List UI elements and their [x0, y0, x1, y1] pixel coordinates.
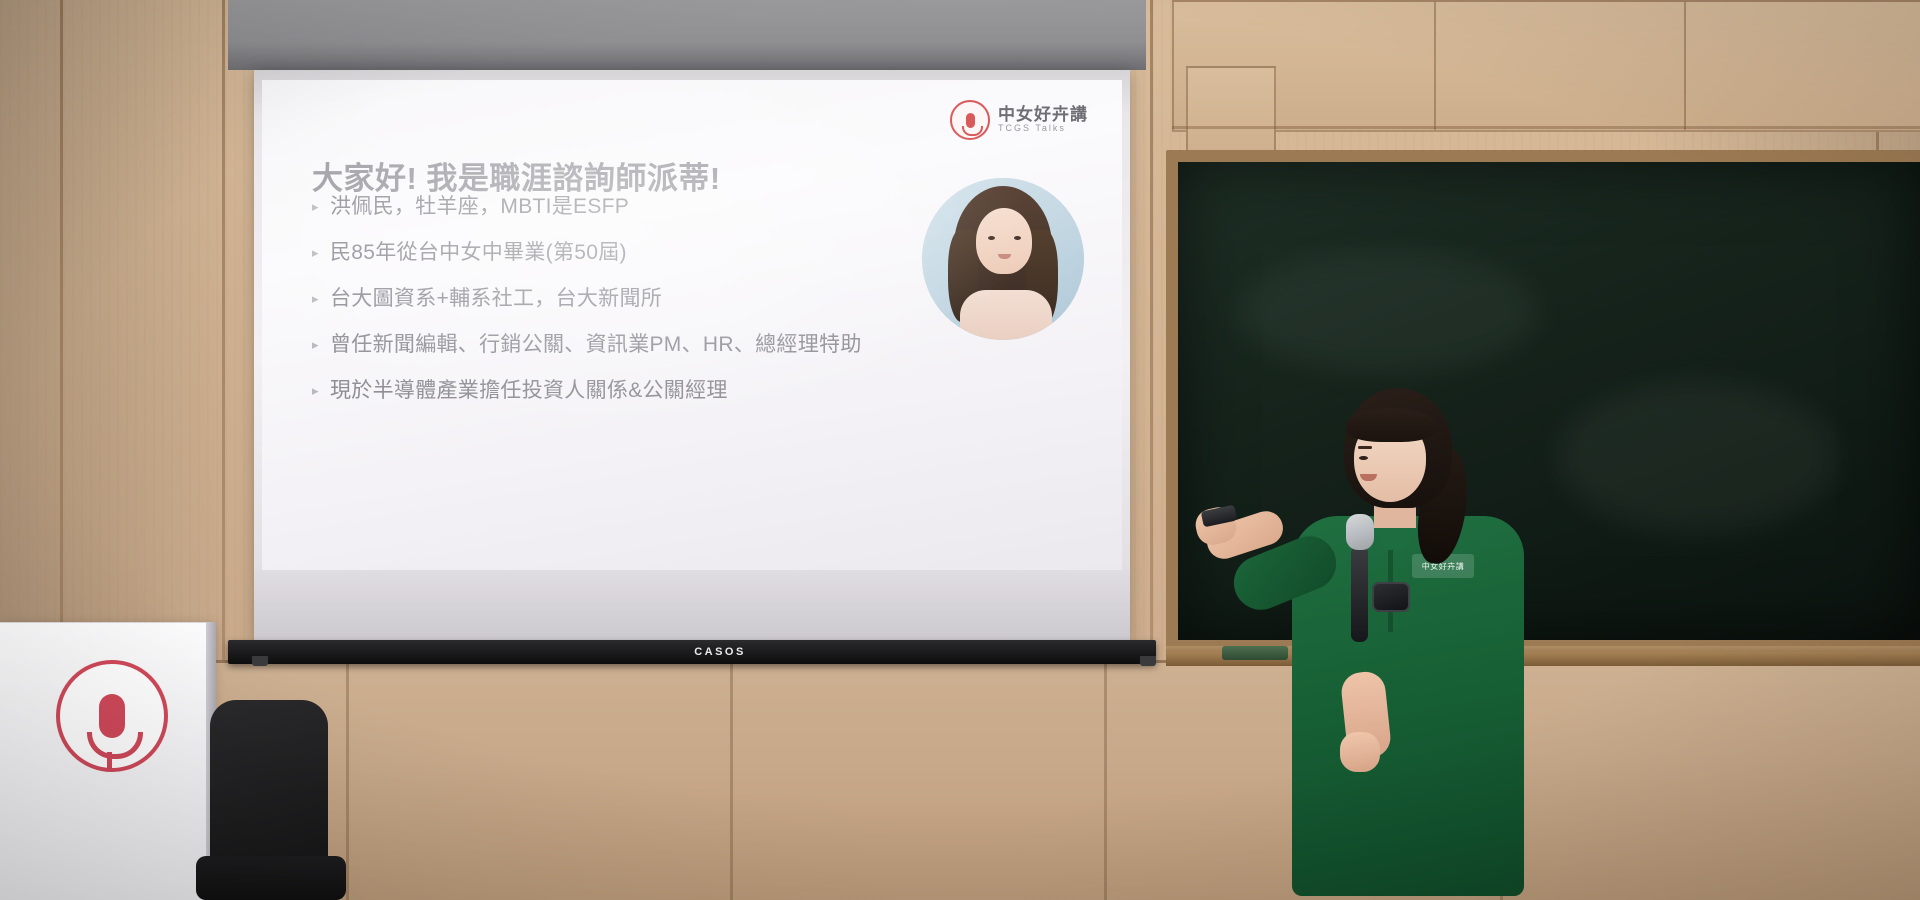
microphone-icon [950, 100, 990, 140]
presenter-eyebrow [1358, 446, 1372, 449]
wainscot-seam [346, 660, 349, 900]
microphone-glyph [99, 694, 125, 738]
microphone-handle[interactable] [1351, 546, 1368, 642]
bullet-text: 民85年從台中女中畢業(第50屆) [330, 238, 627, 268]
presenter-bangs [1346, 408, 1436, 442]
screen-brand-label: CASOS [665, 645, 775, 659]
portrait-eye-left [988, 236, 995, 240]
slide-bullet-list: ▸ 洪佩民，牡羊座，MBTI是ESFP ▸ 民85年從台中女中畢業(第50屆) … [312, 192, 912, 422]
wrist-watch [1372, 582, 1410, 612]
list-item: ▸ 民85年從台中女中畢業(第50屆) [312, 238, 912, 268]
list-item: ▸ 曾任新聞編輯、行銷公關、資訊業PM、HR、總經理特助 [312, 330, 912, 360]
wainscot-seam [730, 660, 733, 900]
wall-cabinet [1684, 0, 1920, 132]
presenter-right-hand [1340, 732, 1380, 772]
wall-cabinet [1434, 0, 1688, 132]
bullet-marker-icon: ▸ [312, 376, 330, 406]
bullet-marker-icon: ▸ [312, 330, 330, 360]
chair-seat [196, 856, 346, 900]
list-item: ▸ 洪佩民，牡羊座，MBTI是ESFP [312, 192, 912, 222]
projector-screen-top-mask [228, 0, 1146, 70]
presenter-person: 中女好卉講 [1196, 386, 1526, 900]
bullet-marker-icon: ▸ [312, 284, 330, 314]
banner-microphone-icon [56, 660, 168, 772]
projector-screen-lower-mask [254, 570, 1130, 643]
bullet-text: 現於半導體產業擔任投資人關係&公關經理 [330, 376, 728, 406]
screen-mount-foot [252, 656, 268, 666]
presenter-eye [1359, 456, 1368, 460]
logo-chinese-name: 中女好卉講 [998, 106, 1088, 125]
bullet-marker-icon: ▸ [312, 238, 330, 268]
portrait-eye-right [1014, 236, 1021, 240]
bullet-text: 台大圖資系+輔系社工，台大新聞所 [330, 284, 662, 314]
slide-portrait-avatar [922, 178, 1084, 340]
screen-mount-foot [1140, 656, 1156, 666]
logo-english-name: TCGS Talks [998, 124, 1088, 134]
microphone-glyph [966, 113, 975, 128]
wainscot-seam [1104, 660, 1107, 900]
logo-text-block: 中女好卉講 TCGS Talks [998, 106, 1088, 135]
bullet-text: 曾任新聞編輯、行銷公關、資訊業PM、HR、總經理特助 [330, 330, 862, 360]
bullet-marker-icon: ▸ [312, 192, 330, 222]
list-item: ▸ 台大圖資系+輔系社工，台大新聞所 [312, 284, 912, 314]
classroom-scene: 大家好! 我是職涯諮詢師派蒂! ▸ 洪佩民，牡羊座，MBTI是ESFP ▸ 民8… [0, 0, 1920, 900]
bullet-text: 洪佩民，牡羊座，MBTI是ESFP [330, 192, 629, 222]
slide-logo: 中女好卉講 TCGS Talks [950, 96, 1110, 144]
microphone-icon[interactable] [1346, 514, 1374, 550]
portrait-body [960, 290, 1052, 340]
portrait-face [976, 208, 1032, 274]
cabinet-edge [1172, 126, 1920, 129]
list-item: ▸ 現於半導體產業擔任投資人關係&公關經理 [312, 376, 912, 406]
